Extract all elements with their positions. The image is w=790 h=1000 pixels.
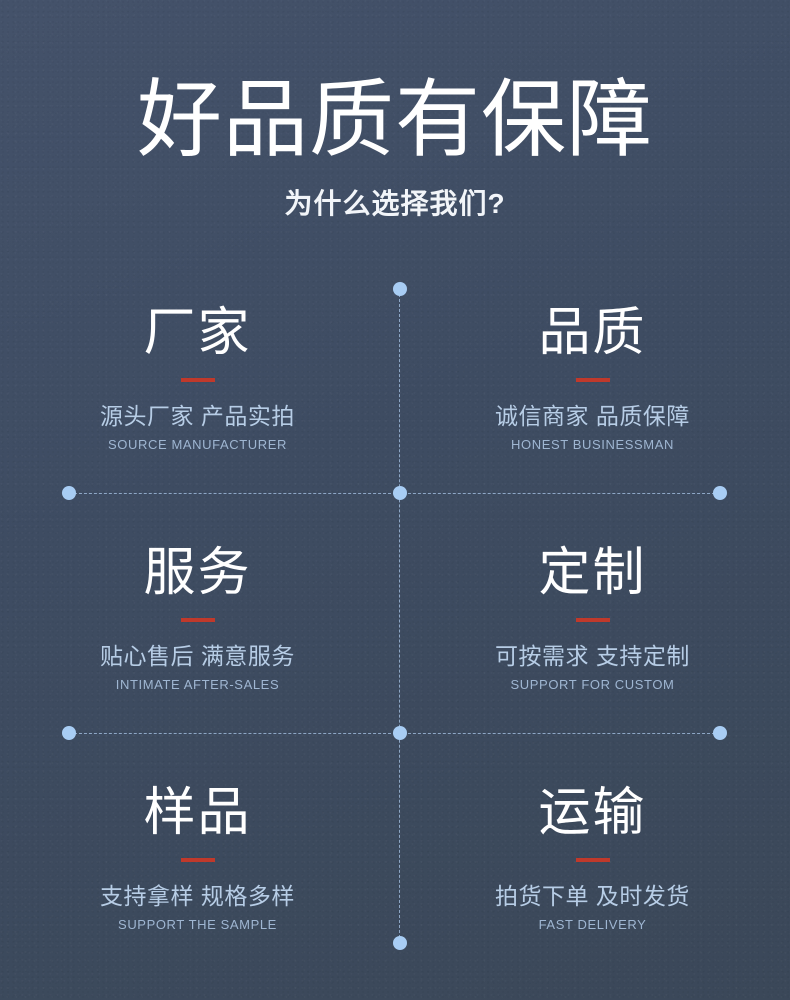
feature-description-en: INTIMATE AFTER-SALES — [0, 670, 395, 693]
feature-description: 拍货下单 及时发货 — [395, 862, 790, 909]
feature-description: 诚信商家 品质保障 — [395, 382, 790, 429]
feature-description-en: HONEST BUSINESSMAN — [395, 430, 790, 453]
feature-heading: 样品 — [0, 785, 395, 841]
feature-description-en: FAST DELIVERY — [395, 910, 790, 933]
page-title: 好品质有保障 — [0, 0, 790, 163]
feature-grid: 厂家 源头厂家 产品实拍 SOURCE MANUFACTURER 品质 诚信商家… — [0, 289, 790, 1000]
feature-description: 可按需求 支持定制 — [395, 622, 790, 669]
feature-description-en: SUPPORT THE SAMPLE — [0, 910, 395, 933]
feature-heading: 厂家 — [0, 305, 395, 361]
feature-description-en: SOURCE MANUFACTURER — [0, 430, 395, 453]
promo-poster: 好品质有保障 为什么选择我们? 厂家 源头厂家 产品实拍 SOURCE MANU… — [0, 0, 790, 1000]
feature-heading: 定制 — [395, 545, 790, 601]
feature-cell-sample: 样品 支持拿样 规格多样 SUPPORT THE SAMPLE — [0, 769, 395, 1000]
feature-heading: 品质 — [395, 305, 790, 361]
feature-heading: 服务 — [0, 545, 395, 601]
feature-cell-custom: 定制 可按需求 支持定制 SUPPORT FOR CUSTOM — [395, 529, 790, 769]
feature-cell-manufacturer: 厂家 源头厂家 产品实拍 SOURCE MANUFACTURER — [0, 289, 395, 529]
feature-heading: 运输 — [395, 785, 790, 841]
feature-cell-delivery: 运输 拍货下单 及时发货 FAST DELIVERY — [395, 769, 790, 1000]
poster-header: 好品质有保障 为什么选择我们? — [0, 0, 790, 220]
feature-description: 支持拿样 规格多样 — [0, 862, 395, 909]
feature-cell-service: 服务 贴心售后 满意服务 INTIMATE AFTER-SALES — [0, 529, 395, 769]
feature-description: 贴心售后 满意服务 — [0, 622, 395, 669]
feature-description-en: SUPPORT FOR CUSTOM — [395, 670, 790, 693]
feature-cell-quality: 品质 诚信商家 品质保障 HONEST BUSINESSMAN — [395, 289, 790, 529]
feature-description: 源头厂家 产品实拍 — [0, 382, 395, 429]
page-subtitle: 为什么选择我们? — [0, 163, 790, 220]
